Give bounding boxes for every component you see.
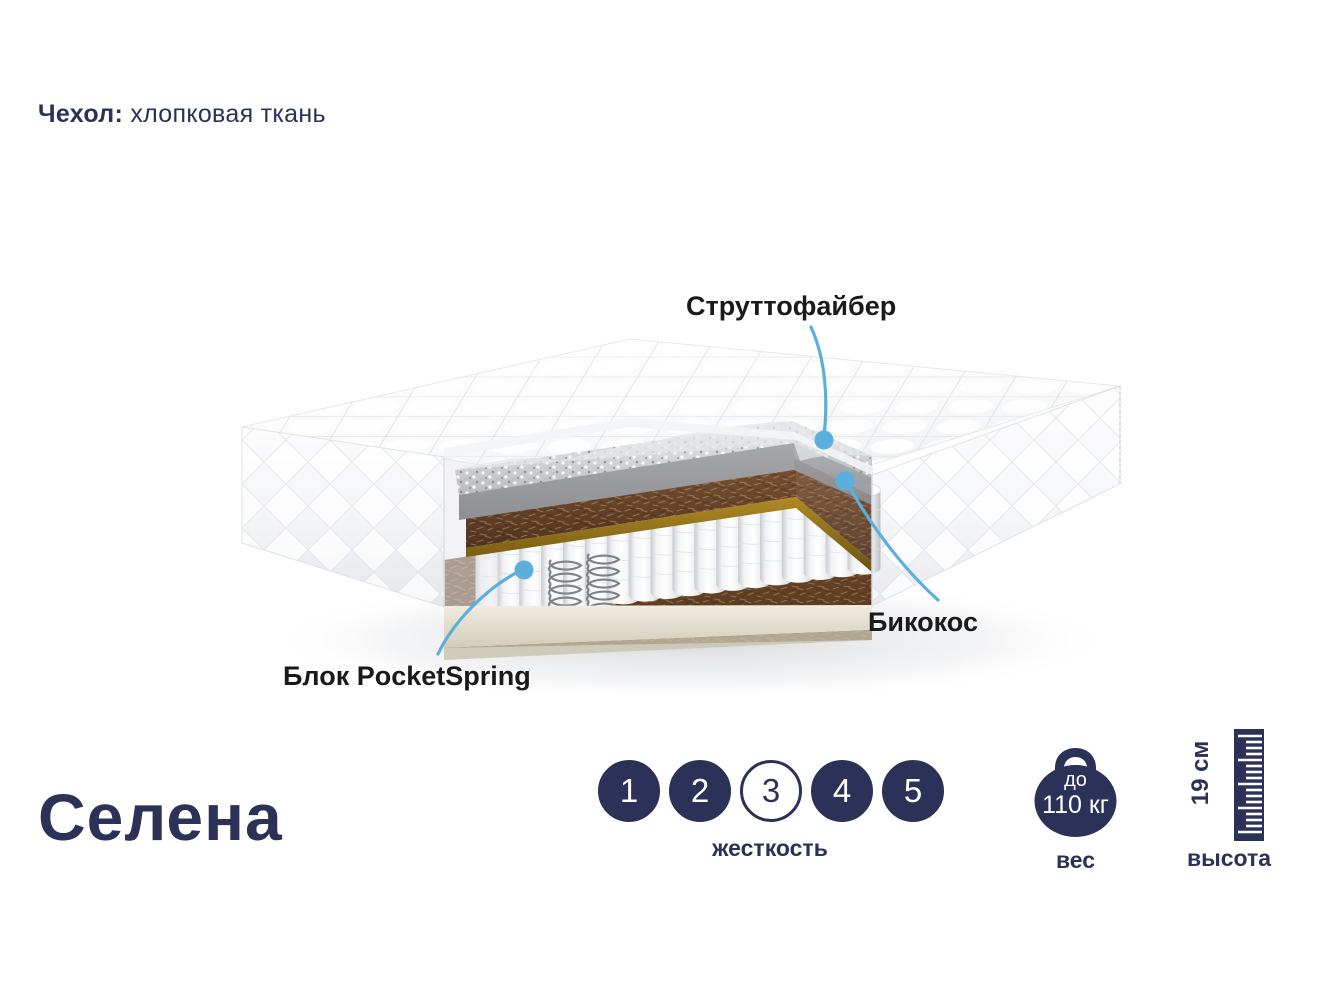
firmness-level-5[interactable]: 5 bbox=[882, 760, 944, 822]
leader-dot-strutto bbox=[815, 431, 834, 450]
height-label: высота bbox=[1168, 845, 1290, 872]
callout-label-bikokos: Бикокос bbox=[868, 607, 978, 638]
firmness-level-4[interactable]: 4 bbox=[811, 760, 873, 822]
ruler-icon bbox=[1230, 729, 1264, 841]
height-block: 19 см bbox=[1168, 729, 1290, 872]
weight-block: до 110 кг вес bbox=[1023, 744, 1128, 874]
callout-label-struttofiber: Струттофайбер bbox=[686, 291, 896, 322]
firmness-label: жесткость bbox=[598, 835, 942, 862]
firmness-level-1[interactable]: 1 bbox=[598, 760, 660, 822]
firmness-scale: 12345 bbox=[598, 760, 944, 822]
callout-label-pocketspring: Блок PocketSpring bbox=[283, 661, 531, 692]
firmness-block: 12345 жесткость bbox=[598, 760, 944, 862]
kettlebell-icon: до 110 кг bbox=[1023, 744, 1128, 838]
firmness-level-3[interactable]: 3 bbox=[740, 760, 802, 822]
infographic-page: Чехол: хлопковая ткань bbox=[0, 0, 1333, 1000]
product-name: Селена bbox=[38, 784, 283, 850]
firmness-level-2[interactable]: 2 bbox=[669, 760, 731, 822]
height-value: 19 см bbox=[1187, 728, 1215, 818]
leader-dot-pocket bbox=[515, 561, 534, 580]
weight-label: вес bbox=[1023, 847, 1128, 874]
height-icon-wrap: 19 см bbox=[1168, 729, 1290, 839]
leader-dot-bikokos bbox=[836, 472, 855, 491]
